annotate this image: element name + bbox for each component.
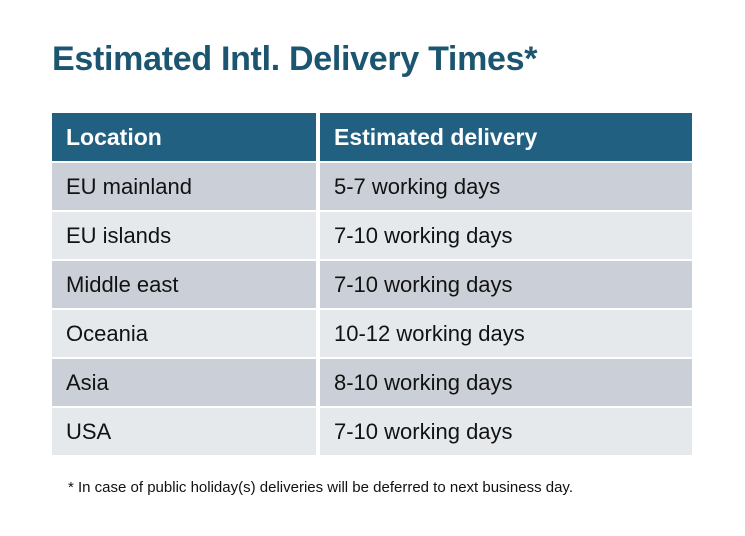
table-row: Asia 8-10 working days xyxy=(52,359,692,406)
column-header-estimated-delivery: Estimated delivery xyxy=(320,113,692,161)
delivery-times-card: Estimated Intl. Delivery Times* Location… xyxy=(0,0,745,536)
table-row: Oceania 10-12 working days xyxy=(52,310,692,357)
cell-delivery: 7-10 working days xyxy=(320,408,692,455)
table-row: EU mainland 5-7 working days xyxy=(52,163,692,210)
cell-location: Middle east xyxy=(52,261,316,308)
delivery-times-table: Location Estimated delivery EU mainland … xyxy=(52,113,692,457)
table-row: EU islands 7-10 working days xyxy=(52,212,692,259)
cell-delivery: 8-10 working days xyxy=(320,359,692,406)
cell-location: EU islands xyxy=(52,212,316,259)
footnote-text: * In case of public holiday(s) deliverie… xyxy=(68,478,573,498)
cell-location: EU mainland xyxy=(52,163,316,210)
page-title: Estimated Intl. Delivery Times* xyxy=(52,38,537,80)
cell-delivery: 10-12 working days xyxy=(320,310,692,357)
cell-location: USA xyxy=(52,408,316,455)
table-header-row: Location Estimated delivery xyxy=(52,113,692,161)
column-header-location: Location xyxy=(52,113,316,161)
cell-delivery: 7-10 working days xyxy=(320,261,692,308)
table-row: USA 7-10 working days xyxy=(52,408,692,455)
cell-location: Asia xyxy=(52,359,316,406)
cell-delivery: 5-7 working days xyxy=(320,163,692,210)
cell-delivery: 7-10 working days xyxy=(320,212,692,259)
table-row: Middle east 7-10 working days xyxy=(52,261,692,308)
cell-location: Oceania xyxy=(52,310,316,357)
